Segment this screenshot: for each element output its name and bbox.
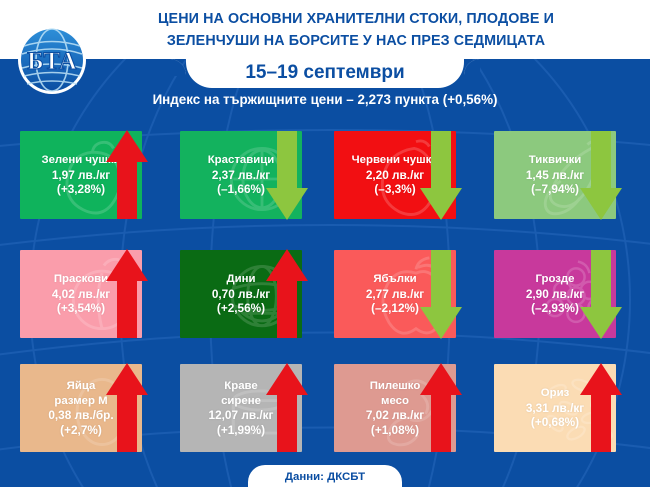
product-name: Дини: [227, 272, 256, 287]
product-price: 7,02 лв./кг: [366, 408, 424, 423]
arrow-down-icon: [578, 128, 624, 222]
arrow-up-icon: [578, 361, 624, 455]
arrow-down-icon: [418, 128, 464, 222]
trend-arrow-down: [418, 247, 464, 341]
data-source-label: Данни: ДКСБТ: [248, 465, 402, 487]
product-price: 2,77 лв./кг: [366, 287, 424, 302]
trend-arrow-up: [104, 247, 150, 341]
product-change-pct: (+1,99%): [217, 423, 265, 438]
arrow-down-icon: [578, 247, 624, 341]
product-change-pct: (+2,56%): [217, 301, 265, 316]
infographic-root: ЦЕНИ НА ОСНОВНИ ХРАНИТЕЛНИ СТОКИ, ПЛОДОВ…: [0, 0, 650, 487]
product-price: 2,37 лв./кг: [212, 168, 270, 183]
bta-globe-logo: БТА: [12, 24, 92, 96]
arrow-up-icon: [104, 247, 150, 341]
arrow-up-icon: [418, 361, 464, 455]
product-change-pct: (+2,7%): [60, 423, 102, 438]
arrow-up-icon: [104, 128, 150, 222]
page-title: ЦЕНИ НА ОСНОВНИ ХРАНИТЕЛНИ СТОКИ, ПЛОДОВ…: [78, 8, 634, 52]
trend-arrow-down: [578, 128, 624, 222]
product-name: Тиквички: [529, 153, 582, 168]
trend-arrow-up: [104, 361, 150, 455]
product-name-line2: месо: [381, 394, 409, 409]
product-change-pct: (–3,3%): [374, 182, 415, 197]
arrow-up-icon: [264, 361, 310, 455]
product-change-pct: (+3,54%): [57, 301, 105, 316]
trend-arrow-up: [418, 361, 464, 455]
product-name: Ябълки: [373, 272, 416, 287]
arrow-up-icon: [264, 247, 310, 341]
product-name: Пилешко: [370, 379, 421, 394]
product-name: Праскови: [54, 272, 108, 287]
index-subtitle: Индекс на тържищните цени – 2,273 пункта…: [0, 92, 650, 107]
product-change-pct: (–2,93%): [531, 301, 579, 316]
trend-arrow-up: [578, 361, 624, 455]
product-name-line2: размер М: [54, 394, 107, 409]
product-price: 1,97 лв./кг: [52, 168, 110, 183]
product-name: Ориз: [541, 386, 569, 401]
arrow-up-icon: [104, 361, 150, 455]
product-change-pct: (–2,12%): [371, 301, 419, 316]
trend-arrow-up: [104, 128, 150, 222]
product-change-pct: (+0,68%): [531, 415, 579, 430]
date-range-label: 15–19 септември: [186, 58, 464, 88]
title-line-1: ЦЕНИ НА ОСНОВНИ ХРАНИТЕЛНИ СТОКИ, ПЛОДОВ…: [78, 8, 634, 30]
arrow-down-icon: [418, 247, 464, 341]
product-price: 3,31 лв./кг: [526, 401, 584, 416]
product-change-pct: (+1,08%): [371, 423, 419, 438]
trend-arrow-up: [264, 361, 310, 455]
product-change-pct: (+3,28%): [57, 182, 105, 197]
product-name: Краве: [224, 379, 257, 394]
trend-arrow-down: [264, 128, 310, 222]
trend-arrow-down: [418, 128, 464, 222]
product-price: 0,70 лв./кг: [212, 287, 270, 302]
arrow-down-icon: [264, 128, 310, 222]
trend-arrow-down: [578, 247, 624, 341]
trend-arrow-up: [264, 247, 310, 341]
product-change-pct: (–1,66%): [217, 182, 265, 197]
product-price: 4,02 лв./кг: [52, 287, 110, 302]
product-change-pct: (–7,94%): [531, 182, 579, 197]
product-name: Грозде: [535, 272, 574, 287]
product-name: Яйца: [67, 379, 96, 394]
product-price: 2,20 лв./кг: [366, 168, 424, 183]
bta-logo-text: БТА: [27, 48, 77, 75]
product-name-line2: сирене: [221, 394, 261, 409]
product-price: 2,90 лв./кг: [526, 287, 584, 302]
product-price: 1,45 лв./кг: [526, 168, 584, 183]
title-line-2: ЗЕЛЕНЧУШИ НА БОРСИТЕ У НАС ПРЕЗ СЕДМИЦАТ…: [78, 30, 634, 52]
